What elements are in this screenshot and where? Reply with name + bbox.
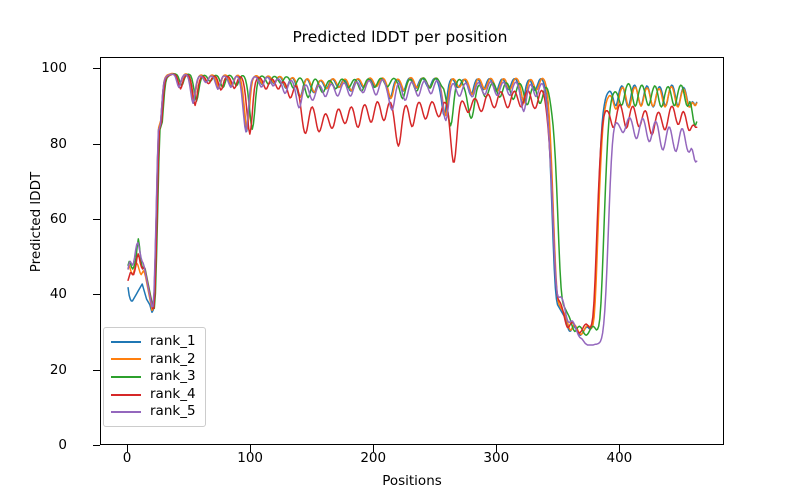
- y-tick-label: 20: [7, 362, 67, 378]
- y-tick-mark: [93, 68, 100, 69]
- x-tick-label: 100: [237, 450, 263, 466]
- legend-item-rank_3[interactable]: rank_3: [111, 368, 196, 386]
- y-tick-label: 100: [7, 60, 67, 76]
- page-title: Predicted lDDT per position: [0, 28, 800, 46]
- y-tick-mark: [93, 370, 100, 371]
- legend-item-rank_4[interactable]: rank_4: [111, 386, 196, 404]
- legend-label: rank_2: [150, 353, 196, 367]
- legend-swatch-rank_3: [111, 376, 141, 378]
- legend-swatch-rank_2: [111, 358, 141, 360]
- x-tick-mark: [496, 445, 497, 452]
- line-series-rank_3: [128, 74, 697, 335]
- legend-label: rank_3: [150, 370, 196, 384]
- legend-item-rank_5[interactable]: rank_5: [111, 403, 196, 421]
- y-tick-label: 40: [7, 286, 67, 302]
- x-tick-label: 300: [483, 450, 509, 466]
- legend-label: rank_5: [150, 405, 196, 419]
- line-series-rank_1: [128, 74, 697, 335]
- legend-swatch-rank_5: [111, 411, 141, 413]
- legend[interactable]: rank_1rank_2rank_3rank_4rank_5: [103, 327, 206, 427]
- x-tick-mark: [373, 445, 374, 452]
- x-tick-label: 200: [360, 450, 386, 466]
- y-tick-mark: [93, 144, 100, 145]
- x-tick-mark: [127, 445, 128, 452]
- x-tick-label: 0: [123, 450, 132, 466]
- x-tick-label: 400: [606, 450, 632, 466]
- legend-item-rank_2[interactable]: rank_2: [111, 351, 196, 369]
- y-tick-label: 60: [7, 211, 67, 227]
- x-axis-label: Positions: [100, 473, 724, 489]
- legend-swatch-rank_1: [111, 341, 141, 343]
- legend-item-rank_1[interactable]: rank_1: [111, 333, 196, 351]
- line-series-rank_4: [128, 74, 697, 333]
- y-tick-label: 80: [7, 136, 67, 152]
- y-tick-mark: [93, 445, 100, 446]
- x-tick-mark: [619, 445, 620, 452]
- matplotlib-figure: Predicted lDDT per position Predicted lD…: [0, 0, 800, 500]
- legend-label: rank_1: [150, 335, 196, 349]
- legend-label: rank_4: [150, 388, 196, 402]
- line-series-rank_2: [128, 73, 697, 334]
- y-tick-label: 0: [7, 437, 67, 453]
- y-tick-mark: [93, 219, 100, 220]
- legend-swatch-rank_4: [111, 394, 141, 396]
- x-tick-mark: [250, 445, 251, 452]
- line-series-rank_5: [128, 74, 697, 345]
- y-tick-mark: [93, 294, 100, 295]
